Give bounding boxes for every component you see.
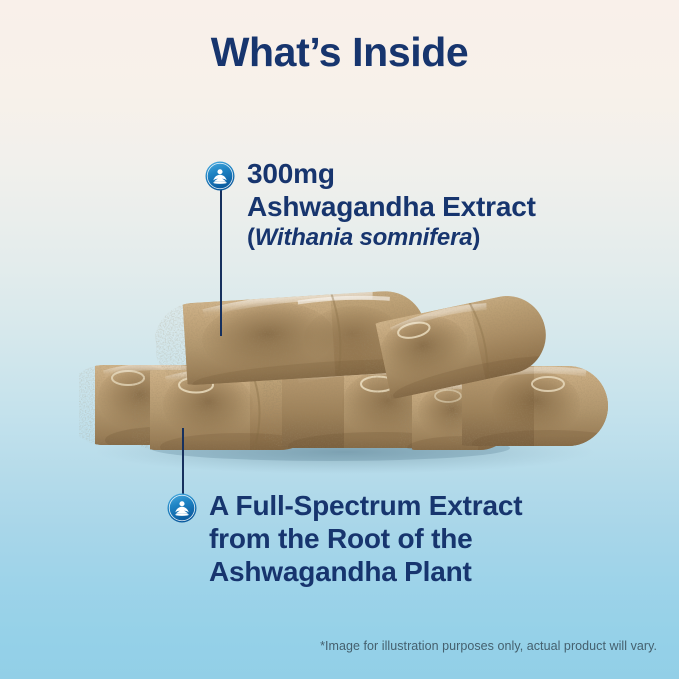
- callout-extract-line2: from the Root of the: [209, 523, 522, 556]
- meditating-person-icon: [205, 161, 235, 191]
- page-title: What’s Inside: [0, 30, 679, 76]
- capsule: [282, 363, 472, 460]
- meditating-person-icon: [167, 493, 197, 523]
- callout-dosage-line1: 300mg: [247, 158, 536, 191]
- callout-dosage-text: 300mg Ashwagandha Extract (Withania somn…: [247, 158, 536, 252]
- latin-binomial: Withania somnifera: [255, 224, 473, 251]
- callout-extract-line3: Ashwagandha Plant: [209, 556, 522, 589]
- disclaimer-text: *Image for illustration purposes only, a…: [320, 639, 657, 653]
- callout-dosage-line2: Ashwagandha Extract: [247, 191, 536, 224]
- callout-extract-type: A Full-Spectrum Extract from the Root of…: [167, 490, 522, 588]
- capsule: [462, 361, 628, 458]
- capsule: [407, 378, 542, 460]
- callout-extract-line1: A Full-Spectrum Extract: [209, 490, 522, 523]
- latin-close-paren: ): [472, 224, 480, 251]
- callout-dosage-latin: (Withania somnifera): [247, 224, 536, 252]
- capsule: [182, 281, 478, 399]
- callout-dosage: 300mg Ashwagandha Extract (Withania somn…: [205, 158, 536, 252]
- whats-inside-infographic: What’s Inside: [0, 0, 679, 679]
- capsule: [95, 360, 255, 454]
- capsule: [372, 279, 579, 410]
- capsule: [150, 365, 330, 461]
- callout-extract-type-text: A Full-Spectrum Extract from the Root of…: [209, 490, 522, 588]
- latin-open-paren: (: [247, 224, 255, 251]
- leader-line-extract-type: [182, 428, 184, 496]
